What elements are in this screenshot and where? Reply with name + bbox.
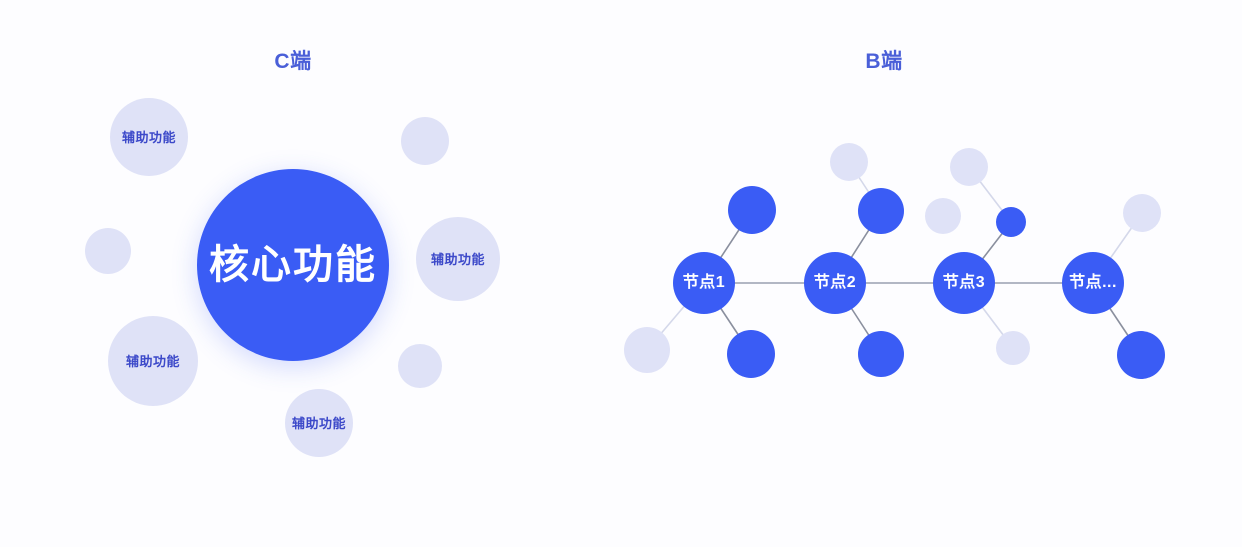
graph-leaf-node-7[interactable] <box>858 188 904 234</box>
graph-node-节点...[interactable]: 节点... <box>1062 252 1124 314</box>
bubble-label: 节点3 <box>943 275 985 291</box>
satellite-bubble-7[interactable] <box>398 344 442 388</box>
graph-leaf-node-12[interactable] <box>830 143 868 181</box>
satellite-bubble-辅助功能[interactable]: 辅助功能 <box>416 217 500 301</box>
graph-node-节点3[interactable]: 节点3 <box>933 252 995 314</box>
graph-leaf-node-14[interactable] <box>950 148 988 186</box>
bubble-label: 节点2 <box>814 275 856 291</box>
core-function-circle[interactable]: 核心功能 <box>197 169 389 361</box>
core-function-label: 核心功能 <box>209 245 377 285</box>
bubble-label: 辅助功能 <box>126 355 180 368</box>
satellite-bubble-辅助功能[interactable]: 辅助功能 <box>285 389 353 457</box>
bubble-label: 辅助功能 <box>431 253 485 266</box>
graph-leaf-node-9[interactable] <box>996 207 1026 237</box>
section-title-business: B端 <box>865 45 902 75</box>
graph-leaf-node-15[interactable] <box>996 331 1030 365</box>
graph-leaf-node-10[interactable] <box>1117 331 1165 379</box>
bubble-label: 辅助功能 <box>292 417 346 430</box>
graph-leaf-node-11[interactable] <box>624 327 670 373</box>
graph-leaf-node-5[interactable] <box>728 186 776 234</box>
bubble-label: 辅助功能 <box>122 131 176 144</box>
section-title-consumer: C端 <box>274 45 311 75</box>
graph-leaf-node-8[interactable] <box>858 331 904 377</box>
satellite-bubble-6[interactable] <box>85 228 131 274</box>
connector-edges <box>0 0 1242 547</box>
graph-leaf-node-6[interactable] <box>727 330 775 378</box>
satellite-bubble-辅助功能[interactable]: 辅助功能 <box>108 316 198 406</box>
graph-leaf-node-16[interactable] <box>1123 194 1161 232</box>
satellite-bubble-5[interactable] <box>401 117 449 165</box>
diagram-canvas: C端 B端 辅助功能辅助功能辅助功能辅助功能核心功能 节点1节点2节点3节点..… <box>0 0 1242 547</box>
graph-node-节点1[interactable]: 节点1 <box>673 252 735 314</box>
graph-leaf-node-13[interactable] <box>925 198 961 234</box>
bubble-label: 节点... <box>1069 275 1117 291</box>
graph-node-节点2[interactable]: 节点2 <box>804 252 866 314</box>
bubble-label: 节点1 <box>683 275 725 291</box>
satellite-bubble-辅助功能[interactable]: 辅助功能 <box>110 98 188 176</box>
